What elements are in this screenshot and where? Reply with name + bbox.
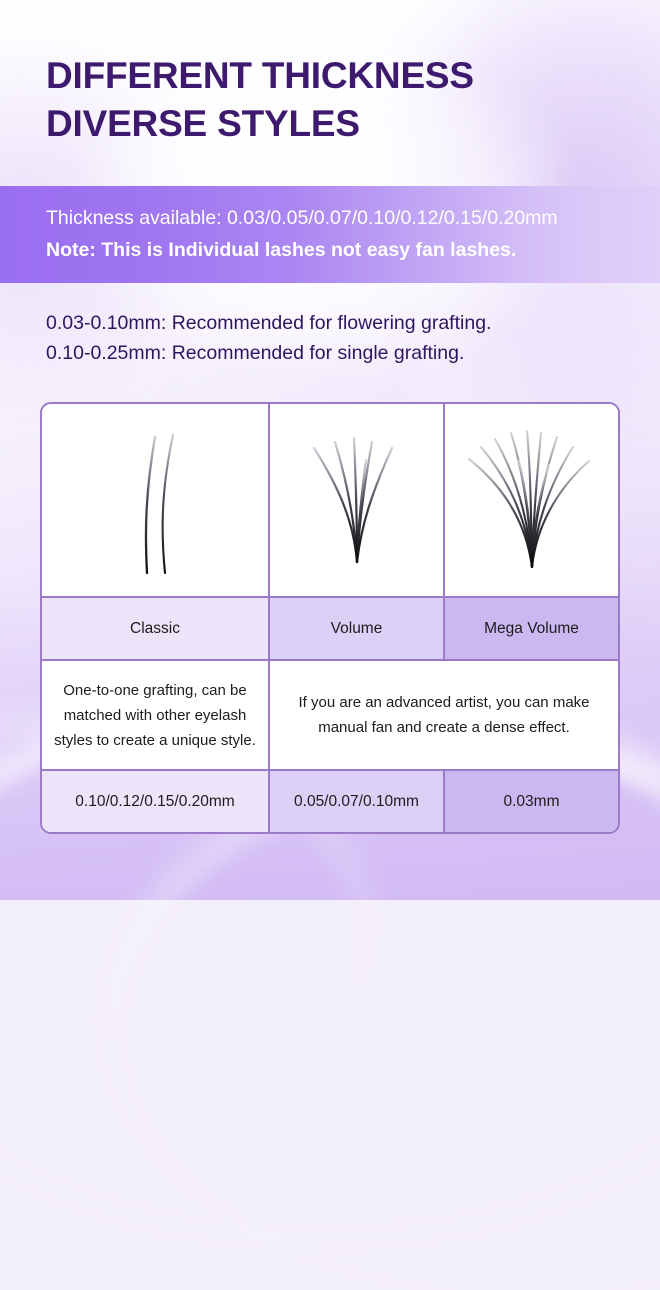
table-row-labels: Classic Volume Mega Volume [42,596,618,659]
thickness-classic: 0.10/0.12/0.15/0.20mm [75,793,234,811]
individual-lashes-note: Note: This is Individual lashes not easy… [46,234,660,266]
mega-volume-illustration-cell [443,404,618,596]
recommendation-line-2: 0.10-0.25mm: Recommended for single graf… [46,338,491,368]
table-row-illustrations [42,404,618,596]
description-cell-classic: One-to-one grafting, can be matched with… [42,661,268,769]
label-cell-classic: Classic [42,598,268,659]
mega-volume-lash-fan-icon [457,425,607,575]
recommendation-block: 0.03-0.10mm: Recommended for flowering g… [46,308,491,368]
title-line-1: DIFFERENT THICKNESS [46,52,620,100]
table-row-descriptions: One-to-one grafting, can be matched with… [42,659,618,769]
thickness-volume: 0.05/0.07/0.10mm [294,793,419,811]
thickness-highlight-band: Thickness available: 0.03/0.05/0.07/0.10… [0,186,660,283]
thickness-cell-volume: 0.05/0.07/0.10mm [268,771,443,832]
volume-illustration-cell [268,404,443,596]
title-line-2: DIVERSE STYLES [46,100,620,148]
lash-comparison-table: Classic Volume Mega Volume One-to-one gr… [40,402,620,834]
style-label-volume: Volume [331,620,383,638]
style-label-mega-volume: Mega Volume [484,620,579,638]
table-row-thickness: 0.10/0.12/0.15/0.20mm 0.05/0.07/0.10mm 0… [42,769,618,832]
thickness-mega-volume: 0.03mm [504,793,560,811]
label-cell-mega-volume: Mega Volume [443,598,618,659]
classic-illustration-cell [42,404,268,596]
thickness-available-text: Thickness available: 0.03/0.05/0.07/0.10… [46,202,660,234]
recommendation-line-1: 0.03-0.10mm: Recommended for flowering g… [46,308,491,338]
label-cell-volume: Volume [268,598,443,659]
description-cell-volume-mega: If you are an advanced artist, you can m… [268,661,618,769]
page-title: DIFFERENT THICKNESS DIVERSE STYLES [46,52,620,148]
thickness-cell-mega-volume: 0.03mm [443,771,618,832]
infographic-content: DIFFERENT THICKNESS DIVERSE STYLES Thick… [0,0,660,900]
volume-lash-fan-icon [292,430,422,570]
style-label-classic: Classic [130,620,180,638]
classic-lash-strands-icon [95,415,215,585]
description-volume-mega: If you are an advanced artist, you can m… [282,690,606,740]
description-classic: One-to-one grafting, can be matched with… [54,678,256,753]
thickness-cell-classic: 0.10/0.12/0.15/0.20mm [42,771,268,832]
